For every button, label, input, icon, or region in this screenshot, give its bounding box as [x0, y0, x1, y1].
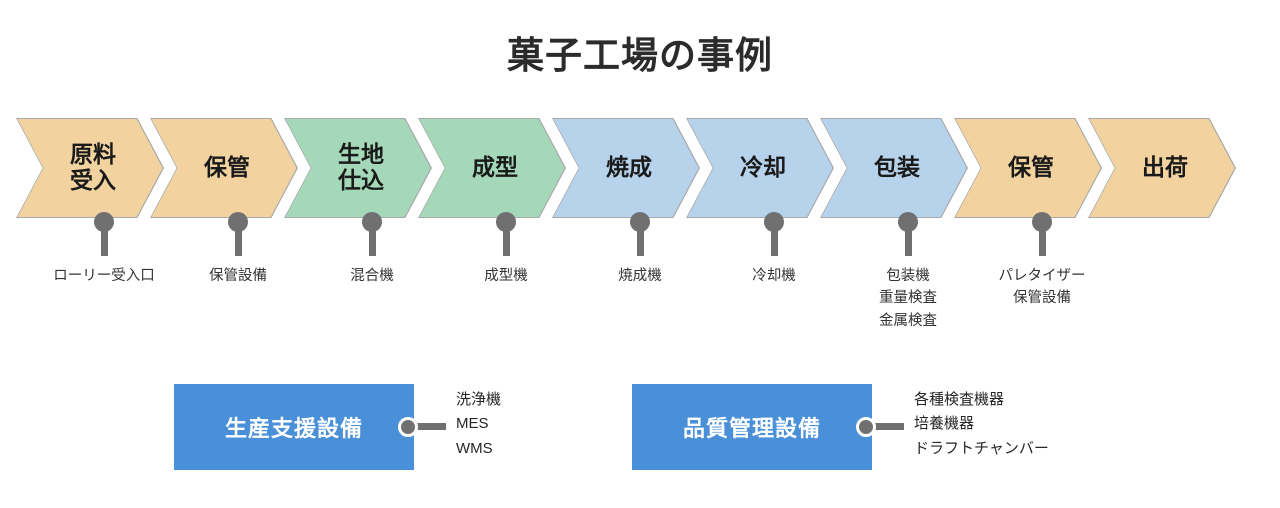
support-section-label: 生産支援設備 — [225, 411, 363, 443]
page-title: 菓子工場の事例 — [0, 34, 1280, 78]
process-step-label: 焼成 — [606, 155, 652, 181]
process-step-label: 冷却 — [740, 155, 786, 181]
support-section-items: 洗浄機 MES WMS — [456, 388, 501, 461]
process-step-label: 原料 受入 — [70, 142, 116, 194]
process-flow-diagram: 原料 受入保管生地 仕込成型焼成冷却包装保管出荷 — [0, 118, 1280, 222]
support-connector-dot — [398, 417, 418, 437]
process-step-8[interactable]: 保管 — [954, 118, 1102, 218]
process-step-6[interactable]: 冷却 — [686, 118, 834, 218]
process-step-2[interactable]: 保管 — [150, 118, 298, 218]
process-step-1[interactable]: 原料 受入 — [16, 118, 164, 218]
connector-dot — [764, 212, 784, 232]
support-connector-dot — [856, 417, 876, 437]
process-step-label: 保管 — [1008, 155, 1054, 181]
process-step-label: 包装 — [874, 155, 920, 181]
connector-dot — [94, 212, 114, 232]
connector-dot — [898, 212, 918, 232]
process-step-3[interactable]: 生地 仕込 — [284, 118, 432, 218]
connector-dot — [1032, 212, 1052, 232]
connector-dot — [496, 212, 516, 232]
connector-dot — [228, 212, 248, 232]
support-section-items: 各種検査機器 培養機器 ドラフトチャンバー — [914, 388, 1049, 461]
process-step-label: 出荷 — [1142, 155, 1188, 181]
process-step-4[interactable]: 成型 — [418, 118, 566, 218]
process-step-7[interactable]: 包装 — [820, 118, 968, 218]
connector-dot — [630, 212, 650, 232]
process-step-label: 成型 — [472, 155, 518, 181]
process-step-label: 保管 — [204, 155, 250, 181]
support-section-label: 品質管理設備 — [683, 411, 821, 443]
support-section-box-2[interactable]: 品質管理設備 — [632, 384, 872, 470]
equipment-label: パレタイザー 保管設備 — [952, 265, 1132, 310]
process-step-label: 生地 仕込 — [338, 142, 384, 194]
connector-dot — [362, 212, 382, 232]
process-step-5[interactable]: 焼成 — [552, 118, 700, 218]
support-section-box-1[interactable]: 生産支援設備 — [174, 384, 414, 470]
process-step-9[interactable]: 出荷 — [1088, 118, 1236, 218]
